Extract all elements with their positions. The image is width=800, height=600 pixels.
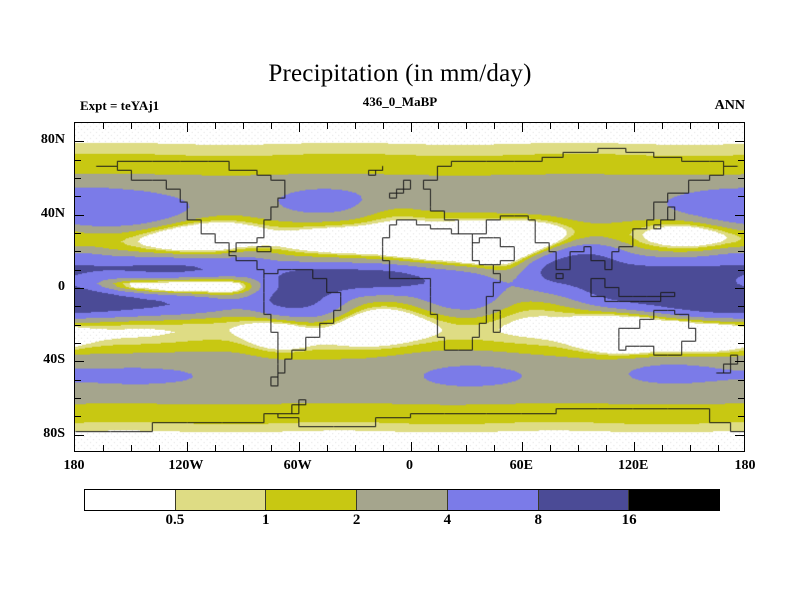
x-tick — [411, 442, 412, 451]
y-tick — [735, 435, 744, 436]
x-tick — [131, 445, 132, 451]
y-axis-tick-label: 80S — [43, 426, 65, 442]
x-tick — [411, 123, 412, 132]
y-tick — [75, 141, 84, 142]
y-tick — [75, 306, 81, 307]
y-tick — [75, 251, 81, 252]
y-tick — [738, 196, 744, 197]
x-tick — [690, 123, 691, 129]
y-tick — [735, 215, 744, 216]
x-axis-tick-label: 0 — [406, 458, 413, 474]
y-tick — [75, 160, 81, 161]
colorbar — [84, 489, 720, 511]
x-tick — [271, 123, 272, 129]
x-tick — [550, 123, 551, 129]
x-tick — [159, 123, 160, 129]
x-tick — [718, 123, 719, 129]
y-tick — [735, 288, 744, 289]
x-tick — [522, 442, 523, 451]
x-tick — [271, 445, 272, 451]
x-tick — [466, 123, 467, 129]
x-tick — [438, 445, 439, 451]
x-tick — [578, 123, 579, 129]
colorbar-tick-label: 4 — [444, 512, 452, 529]
y-tick — [738, 178, 744, 179]
y-tick — [735, 141, 744, 142]
y-tick — [738, 270, 744, 271]
x-tick — [718, 445, 719, 451]
y-tick — [75, 215, 84, 216]
x-tick — [215, 445, 216, 451]
x-tick — [103, 445, 104, 451]
colorbar-band — [538, 490, 629, 510]
colorbar-tick-label: 2 — [353, 512, 361, 529]
x-tick — [550, 445, 551, 451]
colorbar-tick-label: 16 — [622, 512, 637, 529]
x-axis-tick-label: 180 — [735, 458, 756, 474]
x-axis-tick-label: 60E — [510, 458, 533, 474]
x-tick — [606, 445, 607, 451]
y-tick — [738, 306, 744, 307]
precipitation-map-figure: Precipitation (in mm/day) 436_0_MaBP Exp… — [0, 0, 800, 600]
season-label: ANN — [0, 98, 745, 114]
colorbar-band — [85, 490, 175, 510]
x-tick — [327, 445, 328, 451]
x-tick — [662, 123, 663, 129]
y-tick — [75, 233, 81, 234]
x-tick — [215, 123, 216, 129]
y-tick — [738, 343, 744, 344]
y-tick — [738, 416, 744, 417]
x-axis-tick-label: 120W — [168, 458, 203, 474]
y-tick — [738, 251, 744, 252]
y-tick — [738, 398, 744, 399]
x-tick — [383, 123, 384, 129]
x-tick — [243, 445, 244, 451]
x-tick — [634, 442, 635, 451]
y-tick — [735, 361, 744, 362]
page-title: Precipitation (in mm/day) — [0, 60, 800, 88]
x-tick — [522, 123, 523, 132]
colorbar-tick-label: 8 — [535, 512, 543, 529]
x-tick — [494, 445, 495, 451]
colorbar-band — [265, 490, 356, 510]
x-tick — [494, 123, 495, 129]
x-tick — [187, 123, 188, 132]
colorbar-band — [175, 490, 266, 510]
y-tick — [738, 380, 744, 381]
y-tick — [75, 270, 81, 271]
x-tick — [578, 445, 579, 451]
y-axis-tick-label: 40N — [41, 206, 65, 222]
x-tick — [662, 445, 663, 451]
y-tick — [75, 196, 81, 197]
y-tick — [75, 288, 84, 289]
y-tick — [75, 361, 84, 362]
x-tick — [327, 123, 328, 129]
x-tick — [383, 445, 384, 451]
x-axis-tick-label: 120E — [618, 458, 648, 474]
x-tick — [634, 123, 635, 132]
y-tick — [738, 325, 744, 326]
y-tick — [75, 325, 81, 326]
y-tick — [738, 233, 744, 234]
x-axis-tick-label: 180 — [64, 458, 85, 474]
x-tick — [355, 123, 356, 129]
y-tick — [75, 416, 81, 417]
x-tick — [243, 123, 244, 129]
x-axis-tick-label: 60W — [284, 458, 312, 474]
colorbar-tick-label: 1 — [262, 512, 270, 529]
colorbar-tick-label: 0.5 — [165, 512, 184, 529]
y-tick — [75, 398, 81, 399]
x-tick — [438, 123, 439, 129]
x-tick — [131, 123, 132, 129]
x-tick — [690, 445, 691, 451]
y-axis-tick-label: 40S — [43, 352, 65, 368]
colorbar-band — [356, 490, 447, 510]
x-tick — [299, 442, 300, 451]
map-plot-area — [74, 122, 745, 452]
x-tick — [159, 445, 160, 451]
y-tick — [75, 343, 81, 344]
y-tick — [75, 178, 81, 179]
y-axis-tick-label: 0 — [58, 279, 65, 295]
x-tick — [466, 445, 467, 451]
precipitation-contour-canvas — [75, 123, 744, 451]
colorbar-band — [628, 490, 719, 510]
y-tick — [738, 160, 744, 161]
y-tick — [75, 435, 84, 436]
x-tick — [187, 442, 188, 451]
x-tick — [606, 123, 607, 129]
y-tick — [75, 380, 81, 381]
colorbar-band — [447, 490, 538, 510]
x-tick — [103, 123, 104, 129]
x-tick — [355, 445, 356, 451]
y-axis-tick-label: 80N — [41, 132, 65, 148]
x-tick — [299, 123, 300, 132]
